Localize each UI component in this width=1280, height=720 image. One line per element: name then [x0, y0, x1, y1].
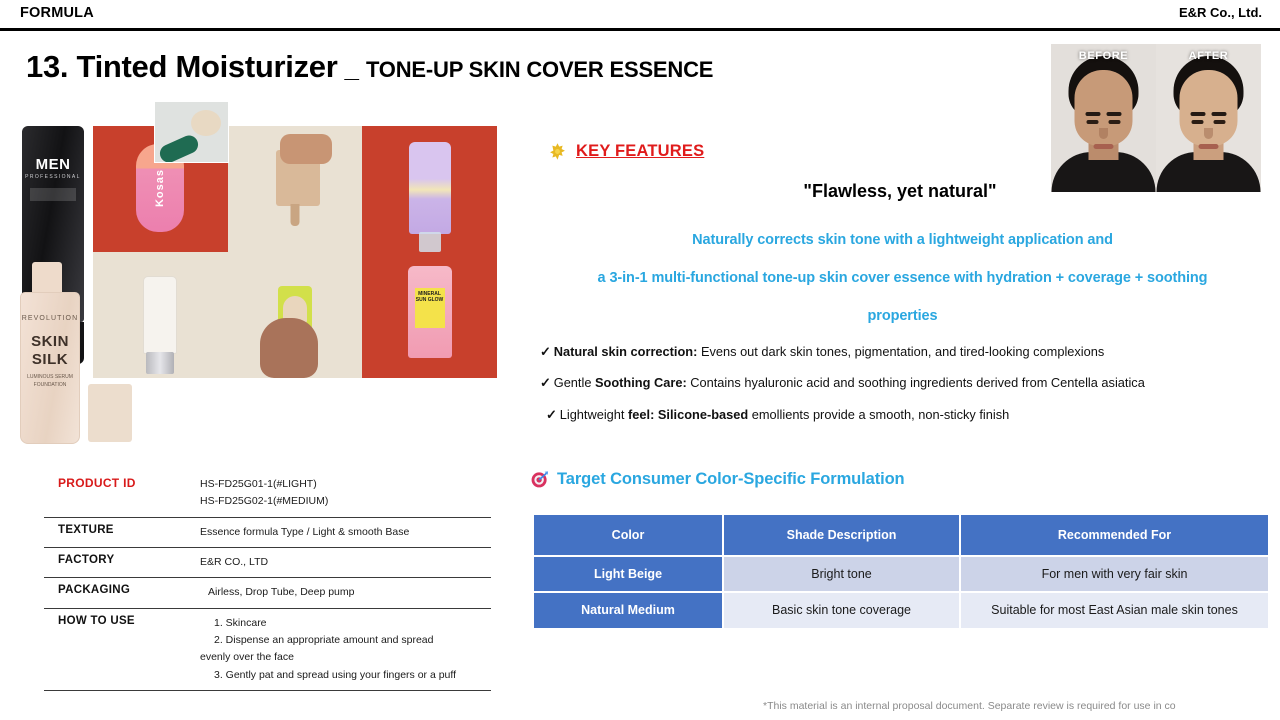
footer-disclaimer: *This material is an internal proposal d…: [763, 700, 1280, 712]
feature-bullet-2-lead: Gentle: [554, 375, 595, 390]
page-title-separator: _: [345, 53, 359, 84]
feature-bullet-3-bold: feel: Silicone-based: [628, 407, 748, 422]
men-sub-label: PROFESSIONAL: [22, 174, 84, 180]
after-label: AFTER: [1156, 50, 1261, 62]
spec-row-packaging: PACKAGING Airless, Drop Tube, Deep pump: [44, 578, 491, 608]
row-2-shade: Basic skin tone coverage: [724, 593, 959, 627]
mineral-label: MINERAL SUN GLOW: [415, 288, 445, 328]
spec-key-texture: TEXTURE: [44, 518, 196, 547]
spec-value-factory: E&R CO., LTD: [196, 548, 491, 577]
spec-value-texture: Essence formula Type / Light & smooth Ba…: [196, 518, 491, 547]
header-divider: [0, 28, 1280, 31]
collage-cell-purple-tube: [362, 126, 497, 252]
product-id-line-1: HS-FD25G01-1(#LIGHT): [200, 476, 487, 493]
product-pink-tube: MINERAL SUN GLOW: [408, 266, 452, 358]
cyan-line-2: a 3-in-1 multi-functional tone-up skin c…: [530, 260, 1275, 298]
column-header-shade-description: Shade Description: [724, 515, 959, 555]
men-brand-label: MEN: [22, 156, 84, 173]
column-header-recommended-for: Recommended For: [961, 515, 1268, 555]
spec-key-packaging: PACKAGING: [44, 578, 196, 607]
cyan-line-1: Naturally corrects skin tone with a ligh…: [530, 222, 1275, 260]
collage-lower-band: MINERAL SUN GLOW: [93, 252, 497, 378]
product-revolution-bottle: REVOLUTION SKIN SILK LUMINOUS SERUM FOUN…: [20, 292, 80, 444]
spec-key-product-id: PRODUCT ID: [44, 470, 196, 517]
row-1-color: Light Beige: [534, 557, 722, 591]
key-features-description: Naturally corrects skin tone with a ligh…: [530, 222, 1275, 336]
target-consumer-heading: Target Consumer Color-Specific Formulati…: [530, 470, 905, 489]
spec-row-product-id: PRODUCT ID HS-FD25G01-1(#LIGHT) HS-FD25G…: [44, 470, 491, 518]
check-icon: ✓: [540, 344, 551, 359]
collage-cell-hand-bottle: [228, 126, 363, 252]
page-title-main: 13. Tinted Moisturizer: [26, 49, 338, 85]
slide-page: FORMULA E&R Co., Ltd. 13. Tinted Moistur…: [0, 0, 1280, 720]
feature-bullet-2: ✓Gentle Soothing Care: Contains hyaluron…: [540, 367, 1280, 398]
key-features-tagline: "Flawless, yet natural": [530, 181, 1270, 202]
table-row: Light Beige Bright tone For men with ver…: [534, 557, 1268, 591]
table-row: Natural Medium Basic skin tone coverage …: [534, 593, 1268, 627]
column-header-color: Color: [534, 515, 722, 555]
page-title: 13. Tinted Moisturizer _ TONE-UP SKIN CO…: [26, 49, 713, 85]
revolution-line3-label: LUMINOUS SERUM FOUNDATION: [21, 373, 79, 389]
key-features-bullets: ✓Natural skin correction: Evens out dark…: [540, 336, 1280, 430]
kosas-brand-label: Kosas: [154, 169, 166, 207]
feature-bullet-2-rest: Contains hyaluronic acid and soothing in…: [687, 375, 1145, 390]
product-purple-tube: [409, 142, 451, 234]
spec-value-how-to-use: 1. Skincare 2. Dispense an appropriate a…: [196, 609, 491, 690]
how-to-use-step-2-cont: evenly over the face: [200, 649, 487, 666]
how-to-use-step-3: 3. Gently pat and spread using your fing…: [200, 667, 487, 684]
spec-key-how-to-use: HOW TO USE: [44, 609, 196, 690]
feature-bullet-2-bold: Soothing Care:: [595, 375, 687, 390]
cyan-line-3: properties: [530, 298, 1275, 336]
revolution-pump: [32, 262, 62, 296]
before-photo: BEFORE: [1051, 44, 1156, 192]
page-title-subtitle: TONE-UP SKIN COVER ESSENCE: [366, 57, 713, 83]
row-2-recommended: Suitable for most East Asian male skin t…: [961, 593, 1268, 627]
revolution-brand-label: REVOLUTION: [21, 315, 79, 322]
before-after-photo: BEFORE AFTER: [1051, 44, 1261, 192]
product-stopper: [88, 384, 132, 442]
spec-value-product-id: HS-FD25G01-1(#LIGHT) HS-FD25G02-1(#MEDIU…: [196, 470, 491, 517]
collage-cell-pink: MINERAL SUN GLOW: [362, 252, 497, 378]
spec-value-packaging: Airless, Drop Tube, Deep pump: [196, 578, 491, 607]
spec-row-factory: FACTORY E&R CO., LTD: [44, 548, 491, 578]
row-2-color: Natural Medium: [534, 593, 722, 627]
feature-bullet-3-lead: Lightweight: [560, 407, 628, 422]
after-photo: AFTER: [1156, 44, 1261, 192]
before-face-illustration: [1051, 44, 1156, 192]
company-name: E&R Co., Ltd.: [1179, 5, 1262, 20]
spec-row-texture: TEXTURE Essence formula Type / Light & s…: [44, 518, 491, 548]
hand-holding-tube: [260, 318, 318, 378]
check-icon: ✓: [540, 375, 551, 390]
revolution-line1-label: SKIN: [21, 333, 79, 350]
color-formulation-table: Color Shade Description Recommended For …: [532, 513, 1270, 630]
spec-row-how-to-use: HOW TO USE 1. Skincare 2. Dispense an ap…: [44, 609, 491, 691]
mineral-label-text: MINERAL SUN GLOW: [415, 291, 445, 304]
revolution-line2-label: SILK: [21, 351, 79, 368]
check-icon: ✓: [546, 407, 557, 422]
feature-bullet-1-rest: Evens out dark skin tones, pigmentation,…: [697, 344, 1104, 359]
header-bar: FORMULA E&R Co., Ltd.: [0, 0, 1280, 28]
after-face-illustration: [1156, 44, 1261, 192]
feature-bullet-3: ✓Lightweight feel: Silicone-based emolli…: [540, 399, 1280, 430]
feature-bullet-3-rest: emollients provide a smooth, non-sticky …: [748, 407, 1009, 422]
key-features-heading: KEY FEATURES: [548, 142, 704, 161]
before-label: BEFORE: [1051, 50, 1156, 62]
collage-cell-lime: [227, 252, 362, 378]
spec-key-factory: FACTORY: [44, 548, 196, 577]
sparkle-icon: [548, 142, 567, 161]
how-to-use-step-2: 2. Dispense an appropriate amount and sp…: [200, 632, 487, 649]
feature-bullet-1-bold: Natural skin correction:: [554, 344, 698, 359]
target-consumer-label: Target Consumer Color-Specific Formulati…: [557, 470, 905, 489]
table-header-row: Color Shade Description Recommended For: [534, 515, 1268, 555]
feature-bullet-1: ✓Natural skin correction: Evens out dark…: [540, 336, 1280, 367]
target-dart-icon: [530, 470, 549, 489]
product-spec-table: PRODUCT ID HS-FD25G01-1(#LIGHT) HS-FD25G…: [44, 470, 491, 691]
header-section-label: FORMULA: [20, 5, 94, 21]
key-features-label: KEY FEATURES: [576, 142, 704, 161]
texture-swatch-inset: [154, 101, 229, 163]
row-1-recommended: For men with very fair skin: [961, 557, 1268, 591]
product-id-line-2: HS-FD25G02-1(#MEDIUM): [200, 493, 487, 510]
row-1-shade: Bright tone: [724, 557, 959, 591]
how-to-use-step-1: 1. Skincare: [200, 615, 487, 632]
